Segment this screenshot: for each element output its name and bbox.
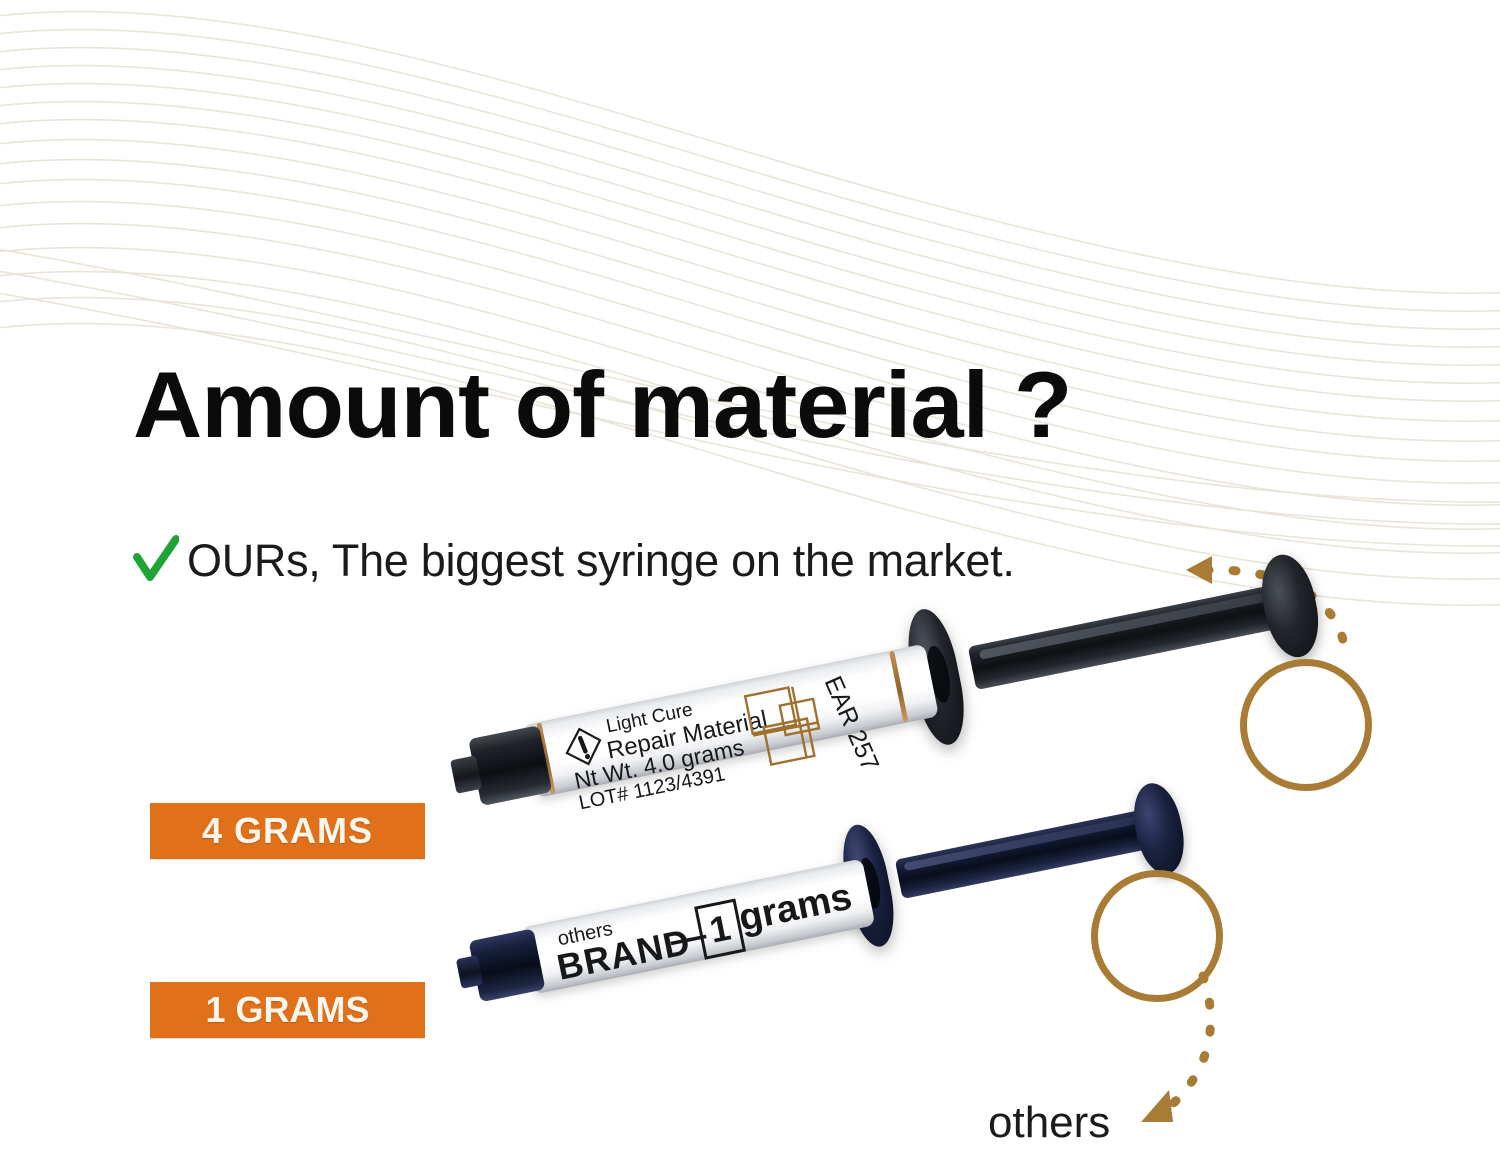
dashed-curved-arrow-bottom	[1095, 970, 1315, 1150]
label-boxed-value-text: 1	[706, 907, 734, 952]
badge-4-grams-label: 4 GRAMS	[202, 810, 373, 852]
syringe-cap-top	[468, 725, 552, 806]
green-check-icon	[133, 535, 179, 587]
subtitle-text: OURs, The biggest syringe on the market.	[187, 535, 1015, 587]
plunger-thumb-pad-bottom	[1127, 779, 1190, 878]
others-caption: others	[988, 1098, 1110, 1148]
plunger-thumb-pad-top	[1254, 550, 1326, 662]
subtitle-row: OURs, The biggest syringe on the market.	[133, 535, 1015, 587]
circle-highlight-bottom-plunger	[1091, 870, 1223, 1002]
badge-4-grams: 4 GRAMS	[150, 803, 425, 859]
badge-1-grams-label: 1 GRAMS	[205, 989, 369, 1031]
badge-1-grams: 1 GRAMS	[150, 982, 425, 1038]
syringe-cap-bottom	[469, 928, 546, 1002]
infographic-canvas: Amount of material ? OURs, The biggest s…	[0, 0, 1500, 1161]
page-title: Amount of material ?	[133, 358, 1071, 452]
circle-highlight-top-plunger	[1240, 659, 1372, 791]
